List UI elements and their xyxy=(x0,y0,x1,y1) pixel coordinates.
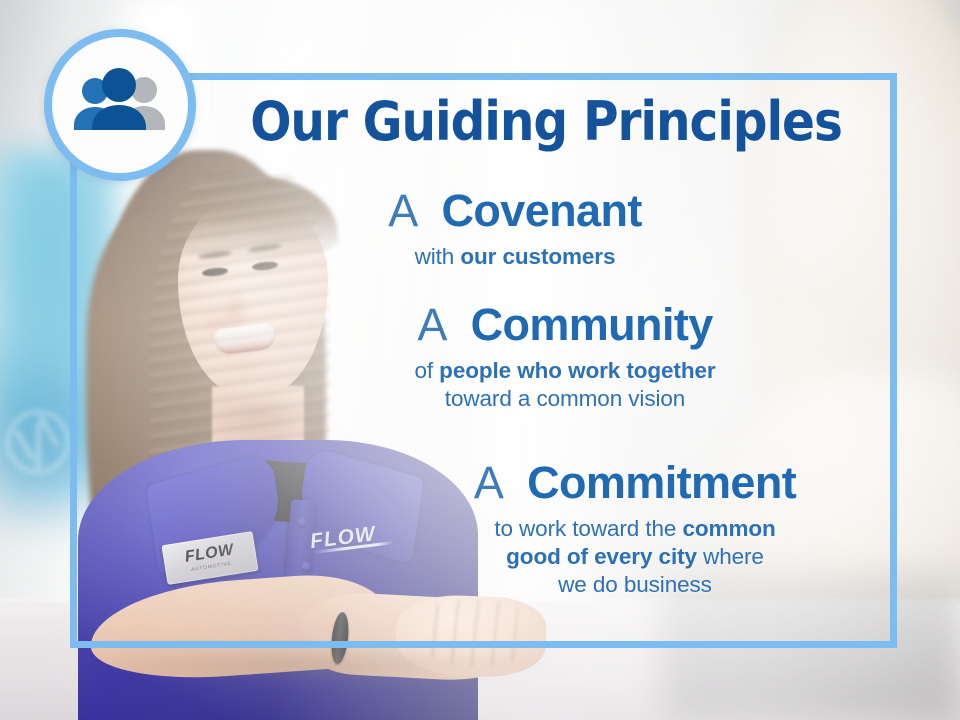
principle-line: toward a common vision xyxy=(340,385,790,413)
vw-logo-icon xyxy=(6,410,70,474)
principle-line: we do business xyxy=(400,571,870,599)
principle-text: where xyxy=(697,544,764,569)
arm-desk-shadow xyxy=(120,656,550,684)
principle-text: we do business xyxy=(558,572,712,597)
principle-description: to work toward the common good of every … xyxy=(400,515,870,600)
principle-heading: A Covenant xyxy=(300,188,730,235)
principle-line: of people who work together xyxy=(340,357,790,385)
principle-covenant: A Covenant with our customers xyxy=(300,188,730,271)
principle-article: A xyxy=(417,299,446,350)
principle-line: to work toward the common xyxy=(400,515,870,543)
people-group-badge xyxy=(44,29,196,181)
principle-description: with our customers xyxy=(300,243,730,271)
principle-text: to work toward the xyxy=(494,516,682,541)
guiding-principles-graphic: FLOW AUTOMOTIVE FLOW Our Guiding Princip… xyxy=(0,0,960,720)
principle-article: A xyxy=(388,185,417,236)
principle-commitment: A Commitment to work toward the common g… xyxy=(400,460,870,600)
principle-heading: A Community xyxy=(340,302,790,349)
people-group-icon xyxy=(68,68,172,142)
principle-text: toward a common vision xyxy=(445,386,685,411)
principle-heading: A Commitment xyxy=(400,460,870,507)
principle-text: of xyxy=(414,358,439,383)
principle-article: A xyxy=(474,457,503,508)
principle-line: with our customers xyxy=(300,243,730,271)
principle-description: of people who work together toward a com… xyxy=(340,357,790,414)
principle-keyword: Covenant xyxy=(442,185,642,236)
principle-keyword: Commitment xyxy=(527,457,796,508)
principle-community: A Community of people who work together … xyxy=(340,302,790,413)
principle-line: good of every city where xyxy=(400,543,870,571)
principle-text-emphasis: common xyxy=(683,516,776,541)
principle-keyword: Community xyxy=(471,299,713,350)
page-title: Our Guiding Principles xyxy=(249,95,843,149)
principle-text: with xyxy=(415,244,461,269)
principle-text-emphasis: people who work together xyxy=(439,358,715,383)
principle-text-emphasis: our customers xyxy=(460,244,615,269)
principle-text-emphasis: good of every city xyxy=(506,544,697,569)
